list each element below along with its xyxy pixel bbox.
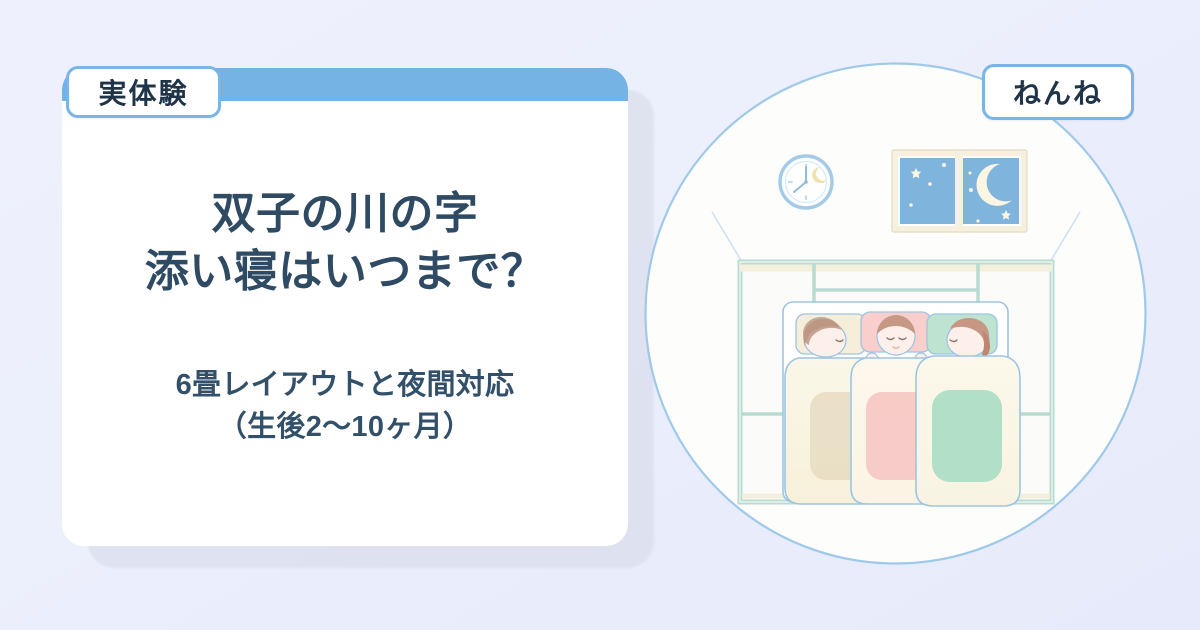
sleeper-parent-left: [796, 314, 866, 357]
illustration-cosleeping-bedroom: [644, 62, 1147, 565]
info-card: 双子の川の字 添い寝はいつまで？ 6畳レイアウトと夜間対応 （生後2〜10ヶ月）: [62, 68, 628, 546]
badge-category-label: ねんね: [1013, 72, 1103, 112]
night-window: [892, 150, 1027, 232]
sleeper-parent-right: [927, 314, 997, 359]
page-title-line-1: 双子の川の字: [145, 185, 546, 243]
futon-quilt-right: [916, 356, 1020, 506]
page-subtitle: 6畳レイアウトと夜間対応 （生後2〜10ヶ月）: [176, 364, 515, 448]
window-mullion: [955, 156, 963, 226]
futon-sleeping-area: [783, 302, 1020, 506]
page-title-line-2: 添い寝はいつまで？: [145, 243, 546, 301]
badge-experience-label: 実体験: [98, 72, 188, 112]
page-subtitle-line-1: 6畳レイアウトと夜間対応: [176, 364, 515, 406]
page-title: 双子の川の字 添い寝はいつまで？: [145, 185, 546, 301]
wall-clock-icon: [780, 156, 832, 208]
badge-category-nenne: ねんね: [982, 64, 1134, 120]
badge-experience: 実体験: [66, 66, 221, 118]
card-content: 双子の川の字 添い寝はいつまで？ 6畳レイアウトと夜間対応 （生後2〜10ヶ月）: [62, 101, 628, 546]
card-surface: 双子の川の字 添い寝はいつまで？ 6畳レイアウトと夜間対応 （生後2〜10ヶ月）: [62, 68, 628, 546]
window-pane-left: [900, 158, 957, 224]
page-subtitle-line-2: （生後2〜10ヶ月）: [176, 406, 515, 448]
